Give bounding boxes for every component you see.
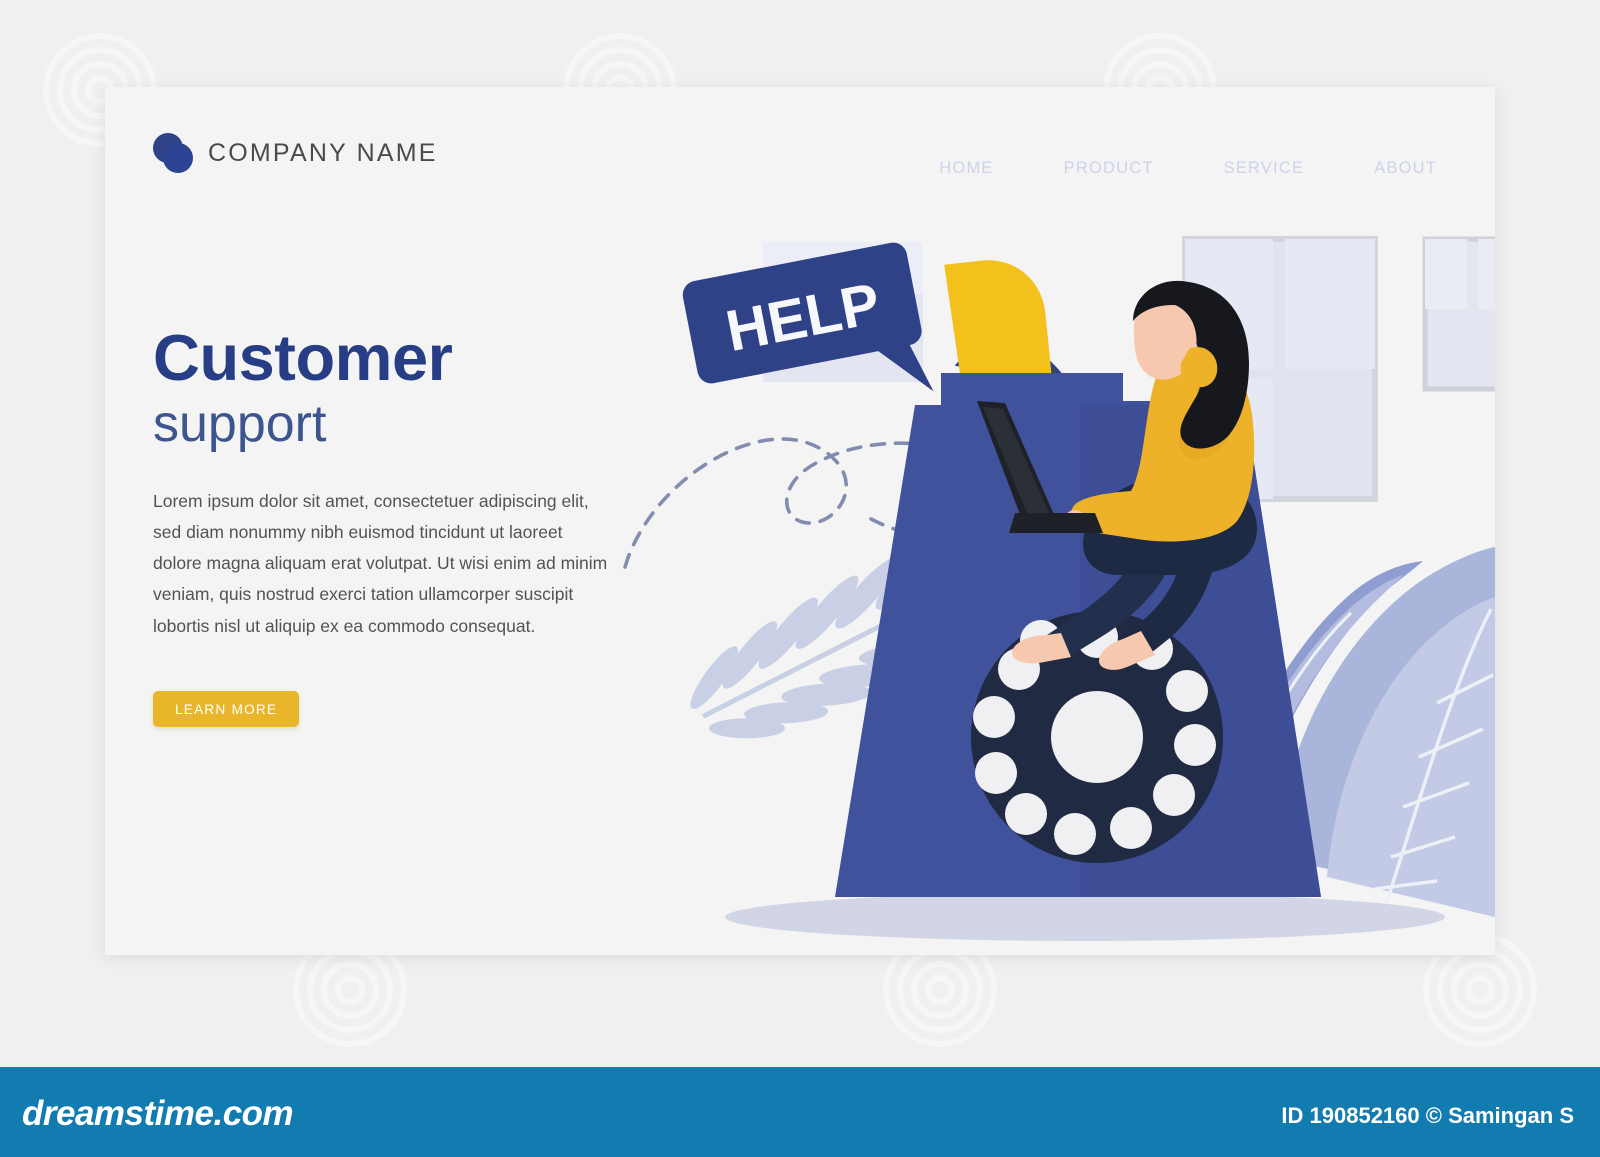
customer-support-illustration: 24/7 <box>585 217 1495 955</box>
hero-copy-column: Customer support Lorem ipsum dolor sit a… <box>153 325 658 727</box>
nav-item-home[interactable]: HOME <box>939 159 993 178</box>
nav-item-product[interactable]: PRODUCT <box>1064 159 1154 178</box>
hero-title-main: Customer <box>153 325 658 390</box>
help-speech-bubble: HELP <box>680 240 933 435</box>
brand-name-label: COMPANY NAME <box>208 139 438 168</box>
landing-page-card: COMPANY NAME HOME PRODUCT SERVICE ABOUT … <box>105 87 1495 955</box>
hero-title-sub: support <box>153 392 658 457</box>
main-navigation: HOME PRODUCT SERVICE ABOUT <box>939 159 1437 178</box>
nav-item-about[interactable]: ABOUT <box>1374 159 1437 178</box>
rotary-dial <box>971 611 1223 863</box>
hero-paragraph: Lorem ipsum dolor sit amet, consectetuer… <box>153 486 613 642</box>
stock-site-footer: dreamstime.com ID 190852160 © Samingan S <box>0 1067 1600 1157</box>
nav-item-service[interactable]: SERVICE <box>1224 159 1305 178</box>
brand-logo[interactable]: COMPANY NAME <box>153 133 438 173</box>
learn-more-button[interactable]: LEARN MORE <box>153 691 299 727</box>
dreamstime-logo: dreamstime.com <box>22 1094 293 1134</box>
image-credit-label: ID 190852160 © Samingan S <box>1281 1103 1574 1129</box>
circles-logo-icon <box>153 133 197 173</box>
wall-frame-right <box>1425 239 1495 389</box>
floor-shadow <box>725 893 1445 941</box>
site-header: COMPANY NAME HOME PRODUCT SERVICE ABOUT <box>105 87 1495 217</box>
